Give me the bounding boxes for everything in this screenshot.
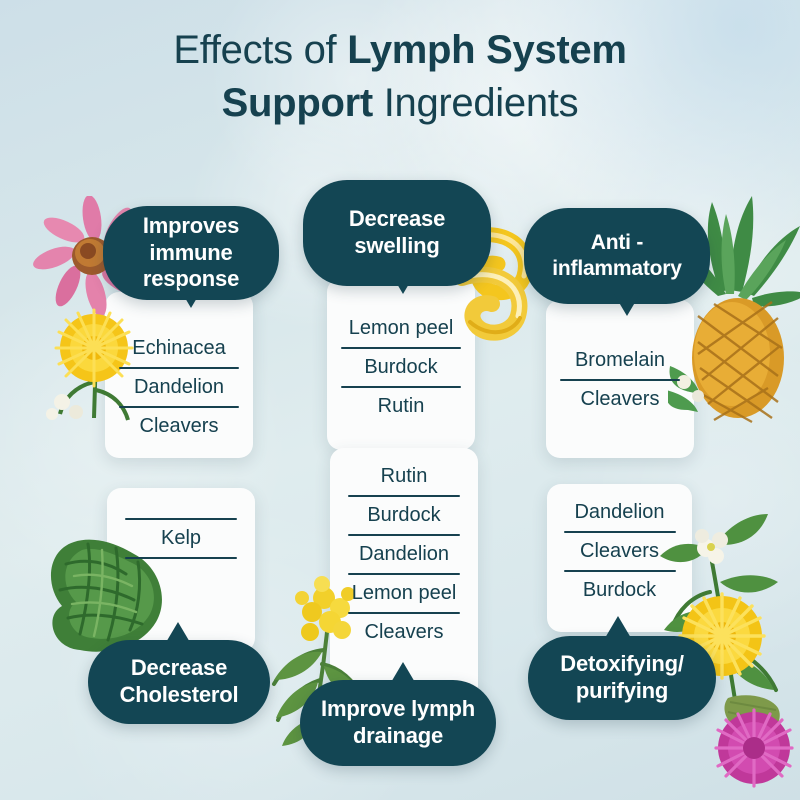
list-item: Burdock (583, 572, 656, 609)
card-5-heading-bubble[interactable]: Improve lymph drainage (300, 680, 496, 766)
page-title-line-2: Support Ingredients (0, 77, 800, 130)
card-4-ingredient-list: Kelp (107, 518, 255, 559)
card-6-heading-line-1: Detoxifying/ (560, 651, 684, 678)
list-item: Rutin (378, 388, 425, 425)
card-1-bubble-tail (178, 286, 204, 308)
list-divider (125, 557, 237, 559)
card-2-heading-line-1: Decrease (349, 206, 445, 233)
card-4-bubble-tail (165, 622, 191, 644)
page-title-line-1: Effects of Lymph System (0, 24, 800, 77)
card-3-heading-bubble[interactable]: Anti - inflammatory (524, 208, 710, 304)
card-3-heading-line-1: Anti - (552, 230, 681, 256)
list-item: Lemon peel (349, 310, 454, 347)
page-title-plain-2: Ingredients (373, 81, 578, 125)
card-2-bubble-tail (390, 272, 416, 294)
card-5-bubble-tail (390, 662, 416, 684)
card-4-heading-line-1: Decrease (120, 655, 239, 682)
list-item: Dandelion (574, 494, 664, 531)
page-title: Effects of Lymph System Support Ingredie… (0, 24, 800, 130)
list-item: Bromelain (575, 342, 665, 379)
card-4-heading-bubble[interactable]: Decrease Cholesterol (88, 640, 270, 724)
card-6-heading-line-2: purifying (560, 678, 684, 705)
card-6-heading-bubble[interactable]: Detoxifying/ purifying (528, 636, 716, 720)
list-item: Cleavers (140, 408, 219, 445)
list-item: Lemon peel (352, 575, 457, 612)
list-item: Rutin (381, 458, 428, 495)
list-item: Kelp (161, 520, 201, 557)
card-2-heading-line-2: swelling (349, 233, 445, 260)
list-item: Cleavers (580, 533, 659, 570)
card-1-heading-line-2: immune (143, 240, 239, 267)
card-5-heading-line-2: drainage (321, 723, 475, 750)
card-6-ingredient-list: Dandelion Cleavers Burdock (547, 494, 692, 609)
card-3-bubble-tail (614, 294, 640, 316)
page-title-plain-1: Effects of (173, 28, 347, 72)
card-3-ingredient-list: Bromelain Cleavers (546, 342, 694, 418)
list-item: Burdock (367, 497, 440, 534)
card-4-heading-line-2: Cholesterol (120, 682, 239, 709)
page-title-bold-1: Lymph System (347, 28, 626, 72)
list-item: Dandelion (134, 369, 224, 406)
page-title-bold-2: Support (222, 81, 373, 125)
list-item: Burdock (364, 349, 437, 386)
card-1-ingredient-list: Echinacea Dandelion Cleavers (105, 330, 253, 445)
list-item: Cleavers (581, 381, 660, 418)
list-item: Cleavers (365, 614, 444, 651)
list-item: Echinacea (132, 330, 225, 367)
card-1-heading-line-1: Improves (143, 213, 239, 240)
card-3-heading-line-2: inflammatory (552, 256, 681, 282)
card-5-heading-line-1: Improve lymph (321, 696, 475, 723)
card-2-ingredient-list: Lemon peel Burdock Rutin (327, 310, 475, 425)
list-item: Dandelion (359, 536, 449, 573)
card-2-heading-bubble[interactable]: Decrease swelling (303, 180, 491, 286)
card-6-bubble-tail (605, 616, 631, 638)
card-5-ingredient-list: Rutin Burdock Dandelion Lemon peel Cleav… (330, 458, 478, 651)
